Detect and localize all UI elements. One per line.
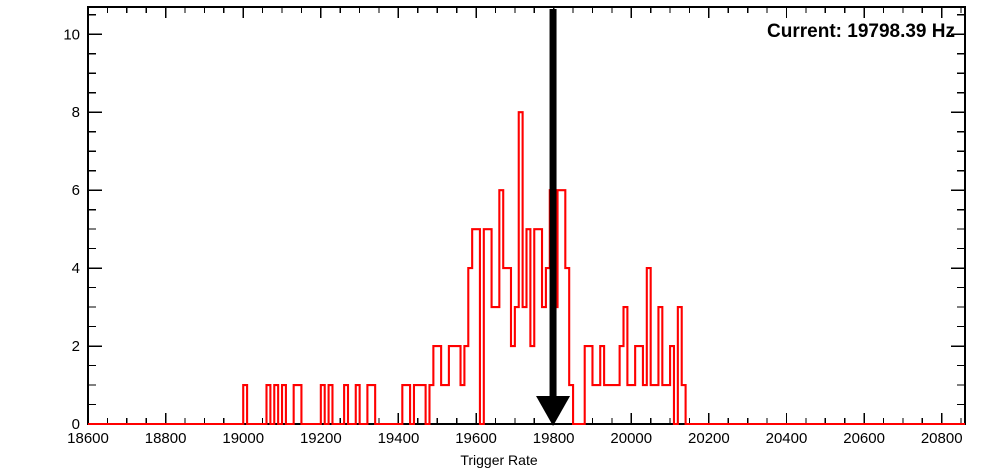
current-rate-readout: Current: 19798.39 Hz bbox=[767, 21, 955, 42]
x-tick-label: 20200 bbox=[688, 430, 730, 447]
x-tick-label: 19800 bbox=[533, 430, 575, 447]
x-tick-label: 20800 bbox=[921, 430, 963, 447]
x-axis-title: Trigger Rate bbox=[460, 452, 538, 468]
x-tick-label: 19000 bbox=[222, 430, 264, 447]
y-tick-label: 4 bbox=[72, 260, 80, 277]
x-tick-label: 20600 bbox=[843, 430, 885, 447]
x-tick-label: 19600 bbox=[455, 430, 497, 447]
y-tick-label: 0 bbox=[72, 416, 80, 433]
x-tick-label: 20400 bbox=[766, 430, 808, 447]
root-canvas: 1860018800190001920019400196001980020000… bbox=[0, 0, 996, 472]
x-tick-label: 18800 bbox=[145, 430, 187, 447]
y-tick-label: 8 bbox=[72, 104, 80, 121]
plot-background bbox=[0, 0, 996, 472]
trigger-rate-histogram: 1860018800190001920019400196001980020000… bbox=[0, 0, 996, 472]
y-tick-label: 2 bbox=[72, 338, 80, 355]
x-tick-label: 19200 bbox=[300, 430, 342, 447]
x-tick-label: 20000 bbox=[610, 430, 652, 447]
y-tick-label: 6 bbox=[72, 182, 80, 199]
x-tick-label: 19400 bbox=[378, 430, 420, 447]
y-tick-label: 10 bbox=[63, 26, 80, 43]
